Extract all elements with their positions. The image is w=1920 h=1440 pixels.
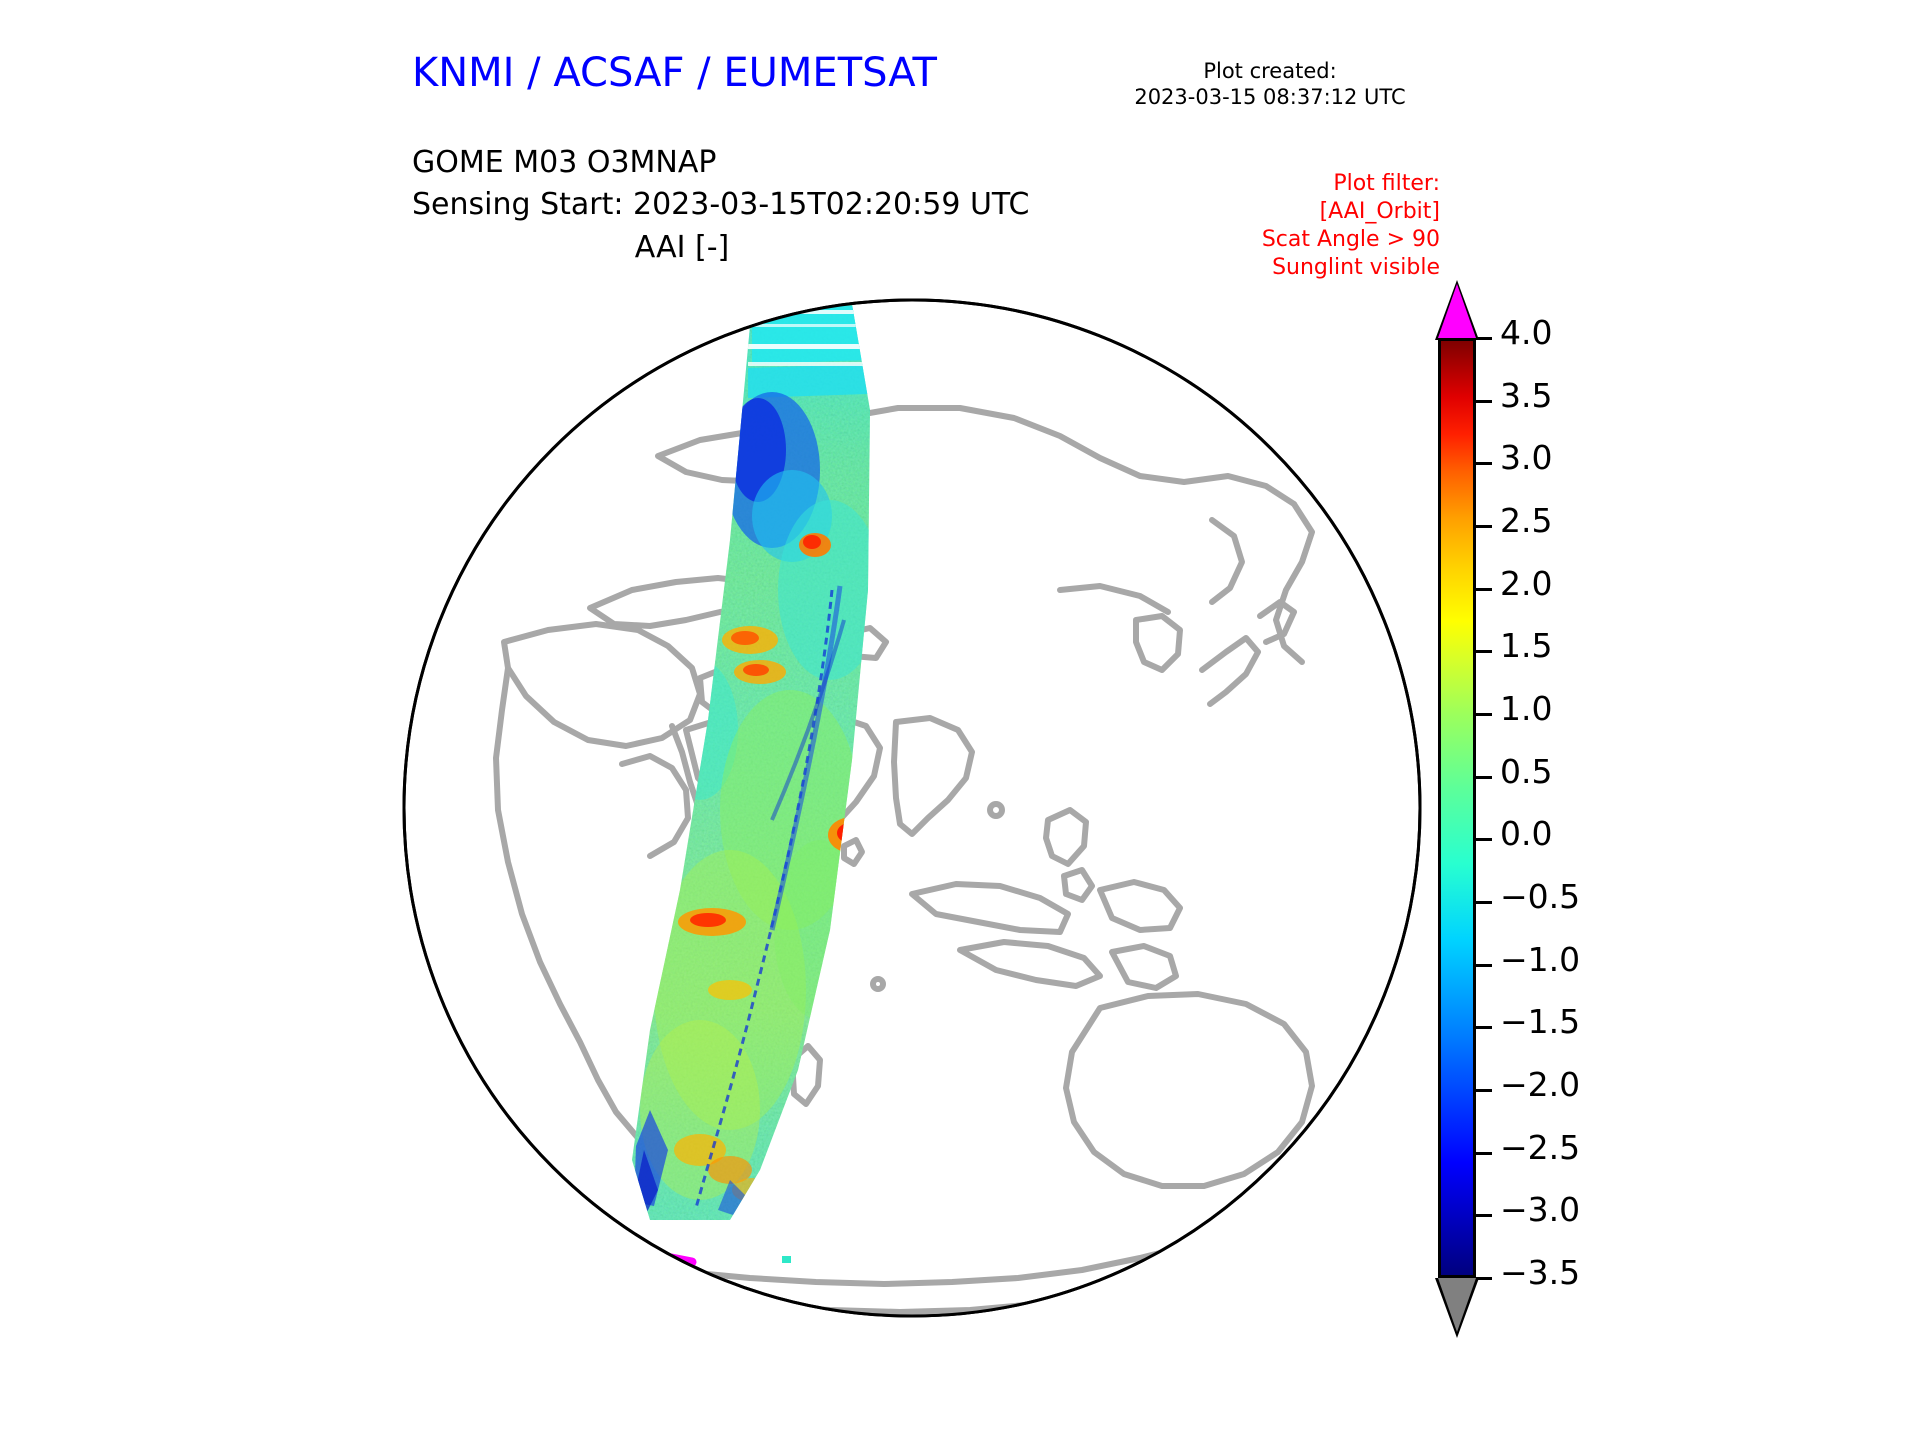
globe-map [400,290,1430,1330]
agency-title: KNMI / ACSAF / EUMETSAT [412,50,937,96]
colorbar-tick [1476,588,1492,591]
plot-created-time: 2023-03-15 08:37:12 UTC [1110,84,1430,110]
colorbar-tick-label: 3.5 [1500,379,1552,412]
plot-filter-line-1: Plot filter: [1100,170,1440,198]
globe-svg [400,290,1430,1330]
colorbar-tick [1476,964,1492,967]
colorbar-tick-label: 3.0 [1500,441,1552,474]
colorbar-tick-label: 1.0 [1500,692,1552,725]
colorbar-tick [1476,1152,1492,1155]
colorbar-gradient [1438,338,1476,1278]
colorbar-tick-label: −2.5 [1500,1131,1580,1164]
colorbar: 4.03.53.02.52.01.51.00.50.0−0.5−1.0−1.5−… [1432,282,1832,1342]
colorbar-tick [1476,776,1492,779]
colorbar-tick [1476,1089,1492,1092]
colorbar-tick-label: −2.0 [1500,1068,1580,1101]
colorbar-tick-label: −1.5 [1500,1005,1580,1038]
colorbar-tick [1476,1277,1492,1280]
colorbar-tick [1476,525,1492,528]
plot-filter-line-4: Sunglint visible [1100,254,1440,282]
colorbar-tick [1476,462,1492,465]
colorbar-tick-label: −3.0 [1500,1193,1580,1226]
colorbar-over-arrow [1438,284,1476,338]
colorbar-tick [1476,1214,1492,1217]
dataset-title-block: GOME M03 O3MNAP Sensing Start: 2023-03-1… [412,142,1029,226]
colorbar-tick-label: 2.5 [1500,504,1552,537]
colorbar-tick [1476,337,1492,340]
plot-page: KNMI / ACSAF / EUMETSAT Plot created: 20… [0,0,1920,1440]
globe-outline [404,300,1420,1316]
sensing-start-line: Sensing Start: 2023-03-15T02:20:59 UTC [412,184,1029,226]
colorbar-tick-label: 0.0 [1500,817,1552,850]
variable-title: AAI [-] [412,230,952,265]
colorbar-under-arrow [1438,1278,1476,1332]
colorbar-tick-label: −1.0 [1500,943,1580,976]
colorbar-tick-label: 0.5 [1500,755,1552,788]
plot-filter-line-3: Scat Angle > 90 [1100,226,1440,254]
colorbar-tick-label: 2.0 [1500,567,1552,600]
colorbar-tick [1476,400,1492,403]
plot-created-block: Plot created: 2023-03-15 08:37:12 UTC [1110,58,1430,110]
colorbar-tick-label: −3.5 [1500,1256,1580,1289]
colorbar-tick [1476,1026,1492,1029]
colorbar-tick [1476,650,1492,653]
colorbar-tick [1476,713,1492,716]
colorbar-tick [1476,901,1492,904]
colorbar-tick [1476,838,1492,841]
colorbar-tick-label: 1.5 [1500,629,1552,662]
instrument-line: GOME M03 O3MNAP [412,142,1029,184]
colorbar-tick-label: 4.0 [1500,316,1552,349]
colorbar-tick-label: −0.5 [1500,880,1580,913]
plot-created-label: Plot created: [1110,58,1430,84]
plot-filter-block: Plot filter: [AAI_Orbit] Scat Angle > 90… [1100,170,1440,282]
plot-filter-line-2: [AAI_Orbit] [1100,198,1440,226]
